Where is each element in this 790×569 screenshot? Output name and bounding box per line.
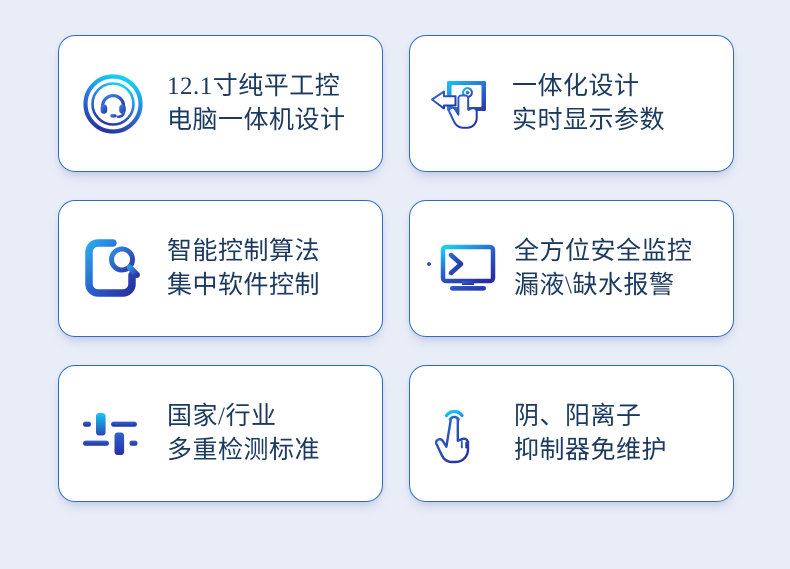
feature-line-1: 智能控制算法 xyxy=(167,235,320,269)
feature-line-2: 抑制器免维护 xyxy=(514,434,667,468)
feature-line-2: 电脑一体机设计 xyxy=(167,104,346,138)
feature-card-smart-algorithm[interactable]: 智能控制算法 集中软件控制 xyxy=(58,200,383,337)
feature-card-text: 12.1寸纯平工控 电脑一体机设计 xyxy=(167,70,356,137)
feature-card-text: 国家/行业 多重检测标准 xyxy=(167,400,330,467)
feature-line-1: 国家/行业 xyxy=(167,400,320,434)
feature-card-integrated-design[interactable]: 一体化设计 实时显示参数 xyxy=(409,35,734,172)
feature-line-1: 一体化设计 xyxy=(512,70,665,104)
feature-card-industrial-pc[interactable]: 12.1寸纯平工控 电脑一体机设计 xyxy=(58,35,383,172)
feature-card-text: 智能控制算法 集中软件控制 xyxy=(167,235,330,302)
feature-line-2: 集中软件控制 xyxy=(167,269,320,303)
feature-line-1: 阴、阳离子 xyxy=(514,400,667,434)
document-magnifier-icon xyxy=(59,201,167,336)
feature-card-text: 一体化设计 实时显示参数 xyxy=(512,70,675,137)
feature-card-safety-monitoring[interactable]: 全方位安全监控 漏液\缺水报警 xyxy=(409,200,734,337)
feature-line-2: 多重检测标准 xyxy=(167,434,320,468)
touchscreen-hand-icon xyxy=(410,36,512,171)
feature-card-grid: 12.1寸纯平工控 电脑一体机设计 xyxy=(58,35,734,502)
feature-line-1: 12.1寸纯平工控 xyxy=(167,70,346,104)
monitor-arrow-in-icon xyxy=(410,201,514,336)
feature-card-suppressor[interactable]: 阴、阳离子 抑制器免维护 xyxy=(409,365,734,502)
feature-line-2: 漏液\缺水报警 xyxy=(514,269,693,303)
headset-support-circle-icon xyxy=(59,36,167,171)
feature-card-text: 全方位安全监控 漏液\缺水报警 xyxy=(514,235,703,302)
feature-card-testing-standards[interactable]: 国家/行业 多重检测标准 xyxy=(58,365,383,502)
sliders-settings-icon xyxy=(59,366,167,501)
feature-line-2: 实时显示参数 xyxy=(512,104,665,138)
tap-hand-icon xyxy=(410,366,514,501)
feature-line-1: 全方位安全监控 xyxy=(514,235,693,269)
feature-card-text: 阴、阳离子 抑制器免维护 xyxy=(514,400,677,467)
